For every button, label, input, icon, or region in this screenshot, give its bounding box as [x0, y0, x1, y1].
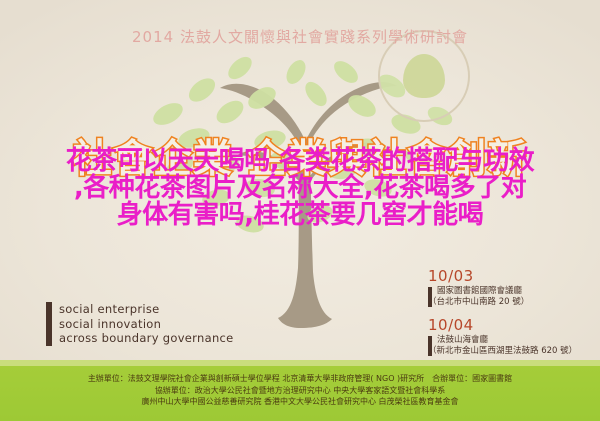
venue-name: 法鼓山海會廳 [437, 335, 577, 346]
overlay-line-3: 身体有害吗,桂花茶要几窖才能喝 [0, 202, 600, 229]
keyword-social-innovation: social innovation [59, 317, 234, 332]
footer-line-organizers: 主辦單位：法鼓文理學院社會企業與創新碩士學位學程 北京清華大學非政府管理( NG… [10, 373, 590, 385]
overlay-line-1: 花茶可以天天喝吗,各类花茶的搭配与功效 [0, 148, 600, 175]
schedule-date: 10/03 [428, 268, 598, 285]
venue-address: （台北市中山南路 20 號） [428, 297, 529, 308]
venue-name: 國家圖書館國際會議廳 [437, 286, 529, 297]
poster-canvas: 2014 法鼓人文關懷與社會實踐系列學術研討會 社會企業 企業與社會創新 社會企… [0, 0, 600, 421]
keywords-accent-bar [46, 302, 52, 346]
venue-address: （新北市金山區西湖里法鼓路 620 號） [428, 346, 577, 357]
footer-line-partners: 廣州中山大學中國公益慈善研究院 香港中文大學公民社會研究中心 白茂榮社區教育基金… [10, 396, 590, 408]
footer-band: 主辦單位：法鼓文理學院社會企業與創新碩士學位學程 北京清華大學非政府管理( NG… [0, 366, 600, 421]
overlay-line-2: ,各种花茶图片及名称大全,花茶喝多了对 [0, 175, 600, 202]
conference-title: 2014 法鼓人文關懷與社會實踐系列學術研討會 [0, 26, 600, 47]
keyword-social-enterprise: social enterprise [59, 302, 234, 317]
schedule-date: 10/04 [428, 317, 598, 334]
schedule-entry: 10/04 法鼓山海會廳 （新北市金山區西湖里法鼓路 620 號） [428, 317, 598, 357]
keyword-across-boundary-governance: across boundary governance [59, 331, 234, 346]
emblem-leaf-shape-icon [403, 54, 445, 98]
footer-line-coorganizers: 協辦單位：政治大學公民社會暨地方治理研究中心 中央大學客家語文暨社會科學系 [10, 385, 590, 397]
schedule-entry: 10/03 國家圖書館國際會議廳 （台北市中山南路 20 號） [428, 268, 598, 308]
schedule-block: 10/03 國家圖書館國際會議廳 （台北市中山南路 20 號） 10/04 法鼓… [428, 268, 598, 366]
keywords-block: social enterprise social innovation acro… [46, 302, 234, 346]
overlay-caption-text: 花茶可以天天喝吗,各类花茶的搭配与功效 ,各种花茶图片及名称大全,花茶喝多了对 … [0, 148, 600, 229]
